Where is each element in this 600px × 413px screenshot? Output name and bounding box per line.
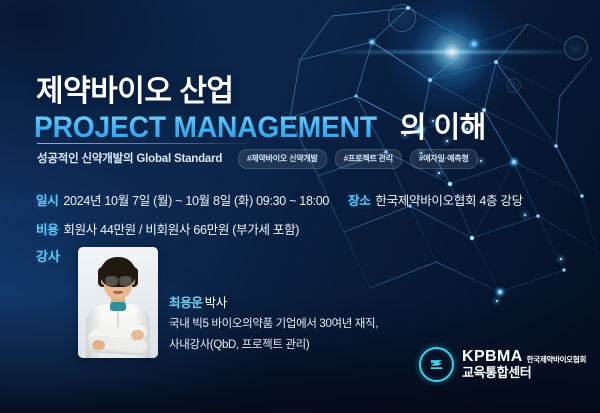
hashtag-chip-2: #프로젝트 관리 xyxy=(335,149,402,169)
kpbma-center-name: 교육통합센터 xyxy=(462,366,586,380)
kpbma-logo-top-row: KPBMA 한국제약바이오협회 xyxy=(462,349,586,365)
poster-title-english-row: PROJECT MANAGEMENT 의 이해 xyxy=(34,104,486,146)
event-fee-value: 회원사 44만원 / 비회원사 66만원 (부가세 포함) xyxy=(63,223,299,237)
instructor-photo xyxy=(78,247,158,358)
photo-mouth xyxy=(113,291,123,294)
event-fee-row: 비용회원사 44만원 / 비회원사 66만원 (부가세 포함) xyxy=(36,219,299,238)
instructor-name: 최용운 xyxy=(169,296,203,310)
kpbma-brand: KPBMA xyxy=(462,349,523,365)
photo-glasses-left-lens xyxy=(105,276,118,286)
event-date-value: 2024년 10월 7일 (월) ~ 10월 8일 (화) 09:30 ~ 18… xyxy=(63,194,329,208)
kpbma-logo: KPBMA 한국제약바이오협회 교육통합센터 xyxy=(419,347,586,382)
poster-title-english: PROJECT MANAGEMENT xyxy=(34,111,377,145)
instructor-bio: 국내 빅5 바이오의약품 기업에서 30여년 재직, 사내강사(QbD, 프로젝… xyxy=(169,314,378,357)
instructor-bio-line-1: 국내 빅5 바이오의약품 기업에서 30여년 재직, xyxy=(169,314,378,335)
title-divider xyxy=(37,143,249,144)
hashtag-chip-3: #애자일·예측형 xyxy=(410,149,478,169)
kpbma-association-name: 한국제약바이오협회 xyxy=(527,356,586,365)
instructor-degree: 박사 xyxy=(205,296,227,310)
event-date-row: 일시2024년 10월 7일 (월) ~ 10월 8일 (화) 09:30 ~ … xyxy=(36,190,329,209)
photo-glasses-bridge xyxy=(116,279,119,280)
event-place-row: 장소한국제약바이오협회 4층 강당 xyxy=(348,190,523,209)
instructor-name-row: 최용운박사 xyxy=(169,292,227,311)
photo-glasses-right-lens xyxy=(119,276,132,286)
event-place-label: 장소 xyxy=(348,194,370,208)
seminar-poster: 제약바이오 산업 PROJECT MANAGEMENT 의 이해 성공적인 신약… xyxy=(0,0,600,413)
instructor-bio-line-2: 사내강사(QbD, 프로젝트 관리) xyxy=(169,335,378,356)
kpbma-emblem-icon xyxy=(419,347,454,382)
hashtag-chip-1: #제약바이오 신약개발 xyxy=(238,149,327,169)
poster-title-english-suffix: 의 이해 xyxy=(400,104,486,146)
poster-subtitle: 성공적인 신약개발의 Global Standard xyxy=(37,150,222,166)
event-place-value: 한국제약바이오협회 4층 강당 xyxy=(375,194,522,208)
event-date-label: 일시 xyxy=(36,194,58,208)
photo-inner-collar xyxy=(110,302,126,311)
photo-hand-left xyxy=(92,340,106,351)
event-fee-label: 비용 xyxy=(36,223,58,237)
kpbma-emblem-glyph xyxy=(427,355,446,374)
kpbma-logo-text: KPBMA 한국제약바이오협회 교육통합센터 xyxy=(462,349,586,380)
poster-content: 제약바이오 산업 PROJECT MANAGEMENT 의 이해 성공적인 신약… xyxy=(0,0,600,413)
hashtag-list: #제약바이오 신약개발 #프로젝트 관리 #애자일·예측형 xyxy=(238,149,478,169)
instructor-label: 강사 xyxy=(36,246,60,265)
